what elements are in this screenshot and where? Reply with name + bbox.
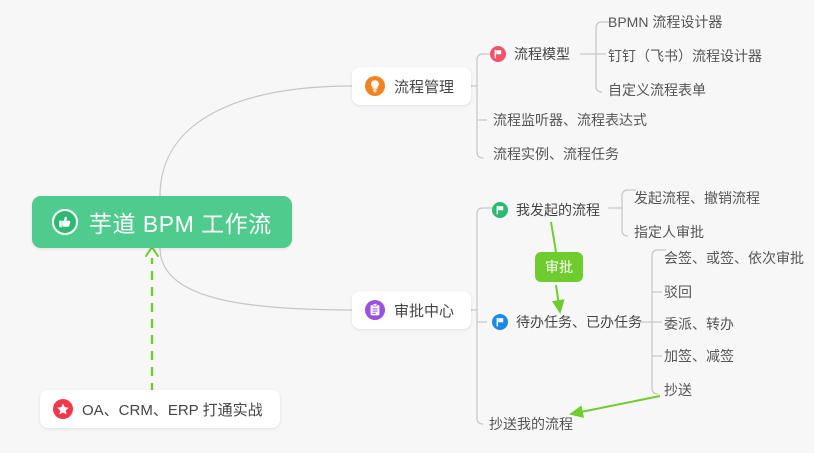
leaf-add-remove-sign[interactable]: 加签、减签 [658, 342, 740, 370]
branch-label: 流程管理 [394, 76, 454, 97]
star-icon [53, 399, 73, 419]
annotation-label: OA、CRM、ERP 打通实战 [82, 399, 263, 420]
leaf-label: 发起流程、撤销流程 [634, 188, 760, 208]
leaf-label: 流程监听器、流程表达式 [493, 110, 647, 130]
leaf-label: 抄送 [664, 380, 692, 400]
node-label: 待办任务、已办任务 [516, 312, 642, 332]
flag-icon [490, 46, 506, 62]
chip-label: 审批 [545, 257, 573, 277]
root-label: 芋道 BPM 工作流 [89, 205, 272, 239]
annotation-integration-note[interactable]: OA、CRM、ERP 打通实战 [40, 390, 280, 428]
annotation-approval-chip[interactable]: 审批 [535, 252, 583, 282]
leaf-label: 指定人审批 [634, 222, 704, 242]
leaf-label: 钉钉（飞书）流程设计器 [608, 46, 762, 66]
leaf-delegate-transfer[interactable]: 委派、转办 [658, 310, 740, 338]
integration-note-arrow [146, 247, 158, 392]
leaf-label: BPMN 流程设计器 [608, 12, 722, 32]
leaf-label: 抄送我的流程 [489, 414, 573, 434]
branch-process-management[interactable]: 流程管理 [352, 67, 471, 105]
node-label: 我发起的流程 [516, 200, 600, 220]
node-label: 流程模型 [514, 44, 570, 64]
leaf-countersign[interactable]: 会签、或签、依次审批 [658, 244, 810, 272]
leaf-bpmn-designer[interactable]: BPMN 流程设计器 [602, 8, 728, 36]
node-process-model[interactable]: 流程模型 [490, 40, 570, 68]
leaf-label: 加签、减签 [664, 346, 734, 366]
clipboard-icon [365, 300, 385, 320]
leaf-label: 委派、转办 [664, 314, 734, 334]
flag-icon [492, 314, 508, 330]
mindmap-canvas: 芋道 BPM 工作流 流程管理 流程模型 BPMN 流程设计器 钉钉（飞书）流程… [0, 0, 814, 453]
leaf-reject[interactable]: 驳回 [658, 278, 698, 306]
leaf-cc[interactable]: 抄送 [658, 376, 698, 404]
branch-approval-center[interactable]: 审批中心 [352, 291, 471, 329]
leaf-label: 自定义流程表单 [608, 80, 706, 100]
cc-flow-arrow [571, 396, 660, 414]
leaf-instance-task[interactable]: 流程实例、流程任务 [487, 140, 625, 168]
branch-label: 审批中心 [394, 300, 454, 321]
leaf-listener-expression[interactable]: 流程监听器、流程表达式 [487, 106, 653, 134]
flag-icon [492, 202, 508, 218]
node-todo-done-tasks[interactable]: 待办任务、已办任务 [492, 308, 642, 336]
leaf-label: 流程实例、流程任务 [493, 144, 619, 164]
leaf-cc-to-me[interactable]: 抄送我的流程 [483, 410, 579, 438]
leaf-start-cancel[interactable]: 发起流程、撤销流程 [628, 184, 766, 212]
lightbulb-icon [365, 76, 385, 96]
leaf-label: 驳回 [664, 282, 692, 302]
node-my-initiated[interactable]: 我发起的流程 [492, 196, 600, 224]
leaf-custom-process-form[interactable]: 自定义流程表单 [602, 76, 712, 104]
leaf-dingtalk-feishu-designer[interactable]: 钉钉（飞书）流程设计器 [602, 42, 768, 70]
thumbs-up-icon [52, 209, 78, 235]
leaf-label: 会签、或签、依次审批 [664, 248, 804, 268]
leaf-assignee-approval[interactable]: 指定人审批 [628, 218, 710, 246]
root-node[interactable]: 芋道 BPM 工作流 [32, 196, 292, 248]
